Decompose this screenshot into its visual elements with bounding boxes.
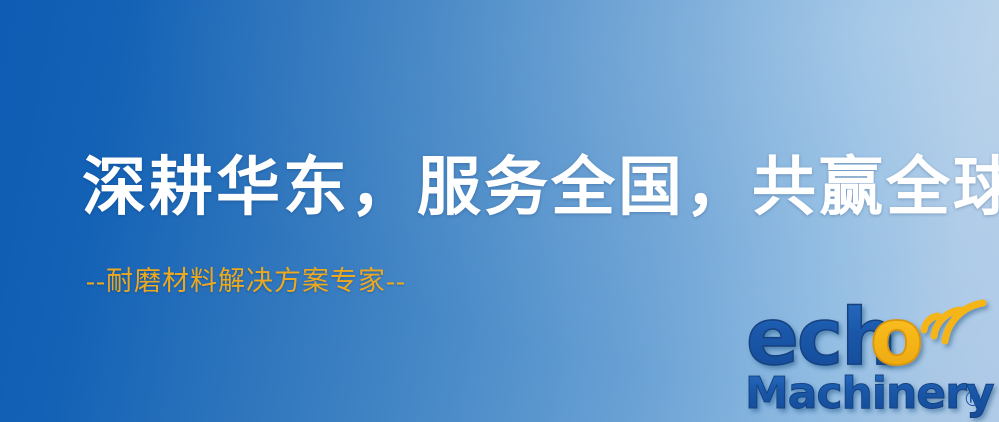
- signal-waves-icon: [924, 303, 983, 341]
- banner-subtitle: --耐磨材料解决方案专家--: [86, 264, 406, 298]
- hero-banner: 深耕华东，服务全国，共赢全球 --耐磨材料解决方案专家--: [0, 0, 999, 422]
- registered-trademark-icon: ®: [963, 387, 983, 411]
- logo-machinery-text: Machinery: [745, 368, 994, 419]
- echo-machinery-logo[interactable]: ech o Machinery ®: [742, 296, 992, 420]
- logo-machinery-word: Machinery: [745, 368, 994, 419]
- banner-headline: 深耕华东，服务全国，共赢全球: [82, 152, 999, 224]
